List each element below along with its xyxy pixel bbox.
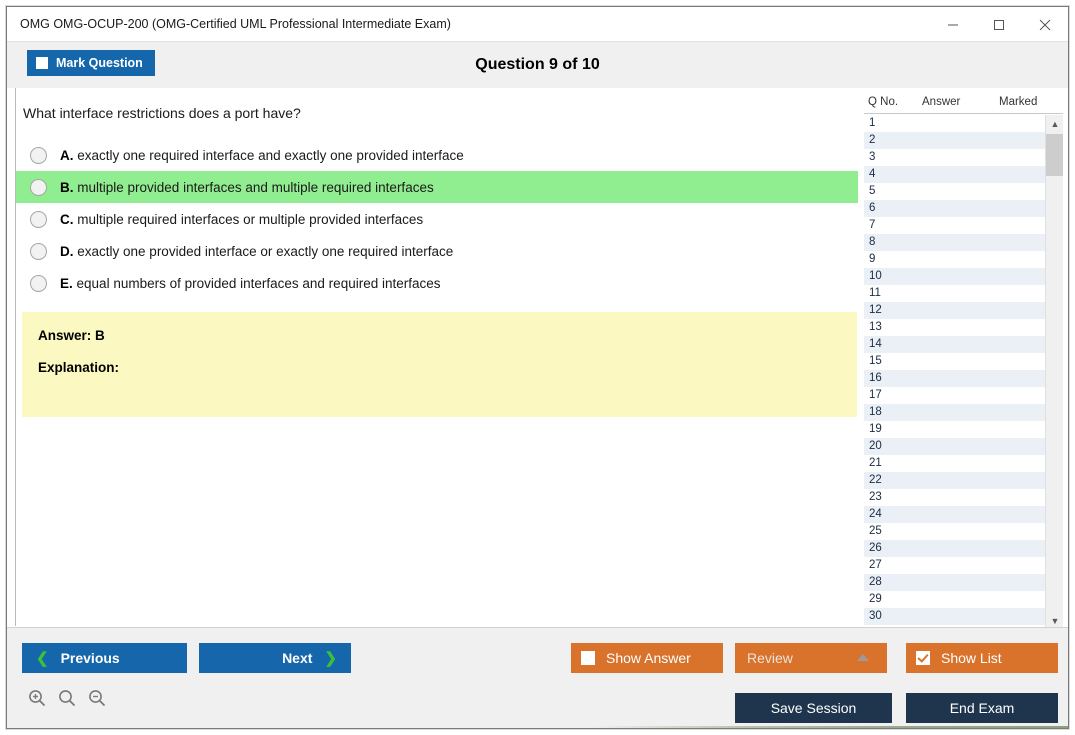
question-list-row[interactable]: 11: [864, 285, 1045, 302]
question-list-row[interactable]: 23: [864, 489, 1045, 506]
question-list-row[interactable]: 28: [864, 574, 1045, 591]
question-list-row[interactable]: 17: [864, 387, 1045, 404]
title-bar: OMG OMG-OCUP-200 (OMG-Certified UML Prof…: [7, 7, 1068, 42]
show-list-button[interactable]: Show List: [906, 643, 1058, 673]
question-list-row[interactable]: 6: [864, 200, 1045, 217]
question-list-row[interactable]: 25: [864, 523, 1045, 540]
scrollbar-thumb[interactable]: [1046, 134, 1063, 176]
question-list-row[interactable]: 15: [864, 353, 1045, 370]
question-list-row[interactable]: 1: [864, 115, 1045, 132]
bottom-toolbar: ❮ Previous Next ❯ Show Answer Review Sho…: [7, 627, 1068, 728]
question-list-row[interactable]: 10: [864, 268, 1045, 285]
question-list-row[interactable]: 16: [864, 370, 1045, 387]
option-label-e: E. equal numbers of provided interfaces …: [60, 276, 441, 291]
question-list-row[interactable]: 13: [864, 319, 1045, 336]
question-counter: Question 9 of 10: [7, 42, 1068, 88]
question-list-row[interactable]: 2: [864, 132, 1045, 149]
option-row-c[interactable]: C. multiple required interfaces or multi…: [16, 203, 858, 235]
option-label-c: C. multiple required interfaces or multi…: [60, 212, 423, 227]
previous-label: Previous: [61, 650, 120, 666]
save-session-button[interactable]: Save Session: [735, 693, 892, 723]
option-row-d[interactable]: D. exactly one provided interface or exa…: [16, 235, 858, 267]
question-list-row[interactable]: 29: [864, 591, 1045, 608]
zoom-in-icon[interactable]: [27, 688, 47, 713]
exam-window: OMG OMG-OCUP-200 (OMG-Certified UML Prof…: [6, 6, 1069, 729]
question-list-row[interactable]: 18: [864, 404, 1045, 421]
option-label-d: D. exactly one provided interface or exa…: [60, 244, 453, 259]
caret-up-icon: [857, 654, 869, 661]
mark-question-label: Mark Question: [56, 56, 143, 70]
column-header-qno: Q No.: [868, 96, 898, 108]
question-list-row[interactable]: 4: [864, 166, 1045, 183]
question-list-row[interactable]: 26: [864, 540, 1045, 557]
previous-button[interactable]: ❮ Previous: [22, 643, 187, 673]
save-session-label: Save Session: [771, 700, 857, 716]
end-exam-label: End Exam: [950, 700, 1015, 716]
answer-options-list: A. exactly one required interface and ex…: [16, 139, 858, 299]
scroll-up-chevron-icon[interactable]: ▲: [1046, 115, 1063, 133]
question-list-row[interactable]: 8: [864, 234, 1045, 251]
zoom-out-icon[interactable]: [87, 688, 107, 713]
radio-icon-b[interactable]: [30, 179, 47, 196]
option-row-a[interactable]: A. exactly one required interface and ex…: [16, 139, 858, 171]
question-list-row[interactable]: 3: [864, 149, 1045, 166]
review-dropdown[interactable]: Review: [735, 643, 887, 673]
column-header-marked: Marked: [999, 96, 1037, 108]
window-title: OMG OMG-OCUP-200 (OMG-Certified UML Prof…: [20, 17, 451, 31]
radio-icon-d[interactable]: [30, 243, 47, 260]
show-answer-label: Show Answer: [606, 650, 691, 666]
option-label-a: A. exactly one required interface and ex…: [60, 148, 464, 163]
question-list-scrollbar[interactable]: ▲ ▼: [1045, 115, 1063, 630]
option-row-e[interactable]: E. equal numbers of provided interfaces …: [16, 267, 858, 299]
mark-question-button[interactable]: Mark Question: [27, 50, 155, 76]
option-row-b[interactable]: B. multiple provided interfaces and mult…: [16, 171, 858, 203]
explanation-label: Explanation:: [38, 360, 857, 375]
radio-icon-c[interactable]: [30, 211, 47, 228]
question-list-body[interactable]: 1234567891011121314151617181920212223242…: [864, 115, 1063, 630]
show-answer-checkbox-icon: [581, 651, 595, 665]
mark-question-checkbox-icon: [36, 57, 48, 69]
column-header-answer: Answer: [922, 96, 960, 108]
next-label: Next: [282, 650, 312, 666]
question-list-row[interactable]: 22: [864, 472, 1045, 489]
answer-value: Answer: B: [38, 328, 857, 343]
minimize-icon[interactable]: [930, 7, 976, 42]
window-controls: [930, 7, 1068, 42]
answer-explanation-panel: Answer: B Explanation:: [22, 312, 857, 417]
question-list-row[interactable]: 19: [864, 421, 1045, 438]
question-text: What interface restrictions does a port …: [23, 105, 301, 121]
question-list-row[interactable]: 5: [864, 183, 1045, 200]
zoom-reset-icon[interactable]: [57, 688, 77, 713]
radio-icon-a[interactable]: [30, 147, 47, 164]
question-list-row[interactable]: 21: [864, 455, 1045, 472]
review-label: Review: [747, 650, 793, 666]
zoom-toolbar: [27, 688, 107, 713]
question-list-row[interactable]: 7: [864, 217, 1045, 234]
maximize-icon[interactable]: [976, 7, 1022, 42]
show-list-label: Show List: [941, 650, 1002, 666]
question-list-panel: Q No. Answer Marked 12345678910111213141…: [864, 92, 1063, 630]
question-list-row[interactable]: 12: [864, 302, 1045, 319]
question-list-row[interactable]: 27: [864, 557, 1045, 574]
chevron-right-icon: ❯: [324, 651, 337, 666]
bottom-accent-strip: [7, 726, 1068, 728]
show-list-checkbox-icon: [916, 651, 930, 665]
chevron-left-icon: ❮: [36, 651, 49, 666]
question-list-rows: 1234567891011121314151617181920212223242…: [864, 115, 1045, 625]
question-list-row[interactable]: 20: [864, 438, 1045, 455]
question-list-header: Q No. Answer Marked: [864, 92, 1063, 114]
next-button[interactable]: Next ❯: [199, 643, 351, 673]
question-list-row[interactable]: 30: [864, 608, 1045, 625]
question-list-row[interactable]: 24: [864, 506, 1045, 523]
question-list-row[interactable]: 9: [864, 251, 1045, 268]
option-label-b: B. multiple provided interfaces and mult…: [60, 180, 434, 195]
end-exam-button[interactable]: End Exam: [906, 693, 1058, 723]
question-list-row[interactable]: 14: [864, 336, 1045, 353]
question-header-bar: Question 9 of 10 Mark Question: [7, 42, 1068, 88]
question-content-pane: What interface restrictions does a port …: [15, 88, 858, 626]
close-icon[interactable]: [1022, 7, 1068, 42]
show-answer-button[interactable]: Show Answer: [571, 643, 723, 673]
radio-icon-e[interactable]: [30, 275, 47, 292]
